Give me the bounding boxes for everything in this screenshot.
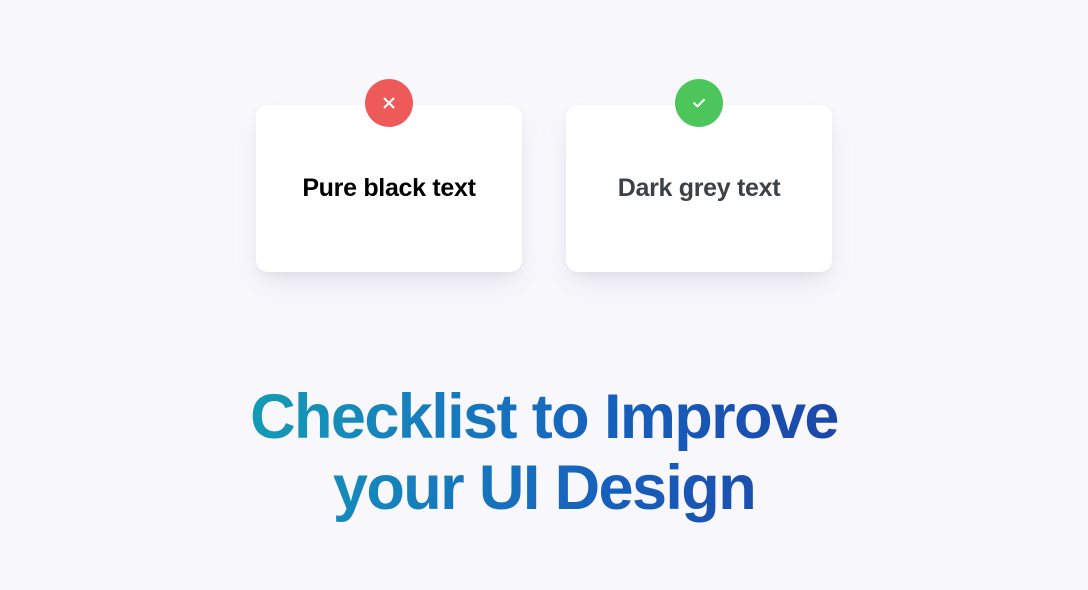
card-dark-grey-text[interactable]: Dark grey text [566,105,832,272]
slide-canvas: Pure black text Dark grey text Checklist… [0,0,1088,590]
page-title-line-2: your UI Design [0,453,1088,524]
comparison-cards-row: Pure black text Dark grey text [0,105,1088,272]
card-label: Dark grey text [618,176,781,201]
page-title-line-1: Checklist to Improve [0,382,1088,453]
cross-icon [365,79,413,127]
card-label: Pure black text [302,176,475,201]
card-pure-black-text[interactable]: Pure black text [256,105,522,272]
page-title: Checklist to Improve your UI Design [0,382,1088,523]
check-icon [675,79,723,127]
